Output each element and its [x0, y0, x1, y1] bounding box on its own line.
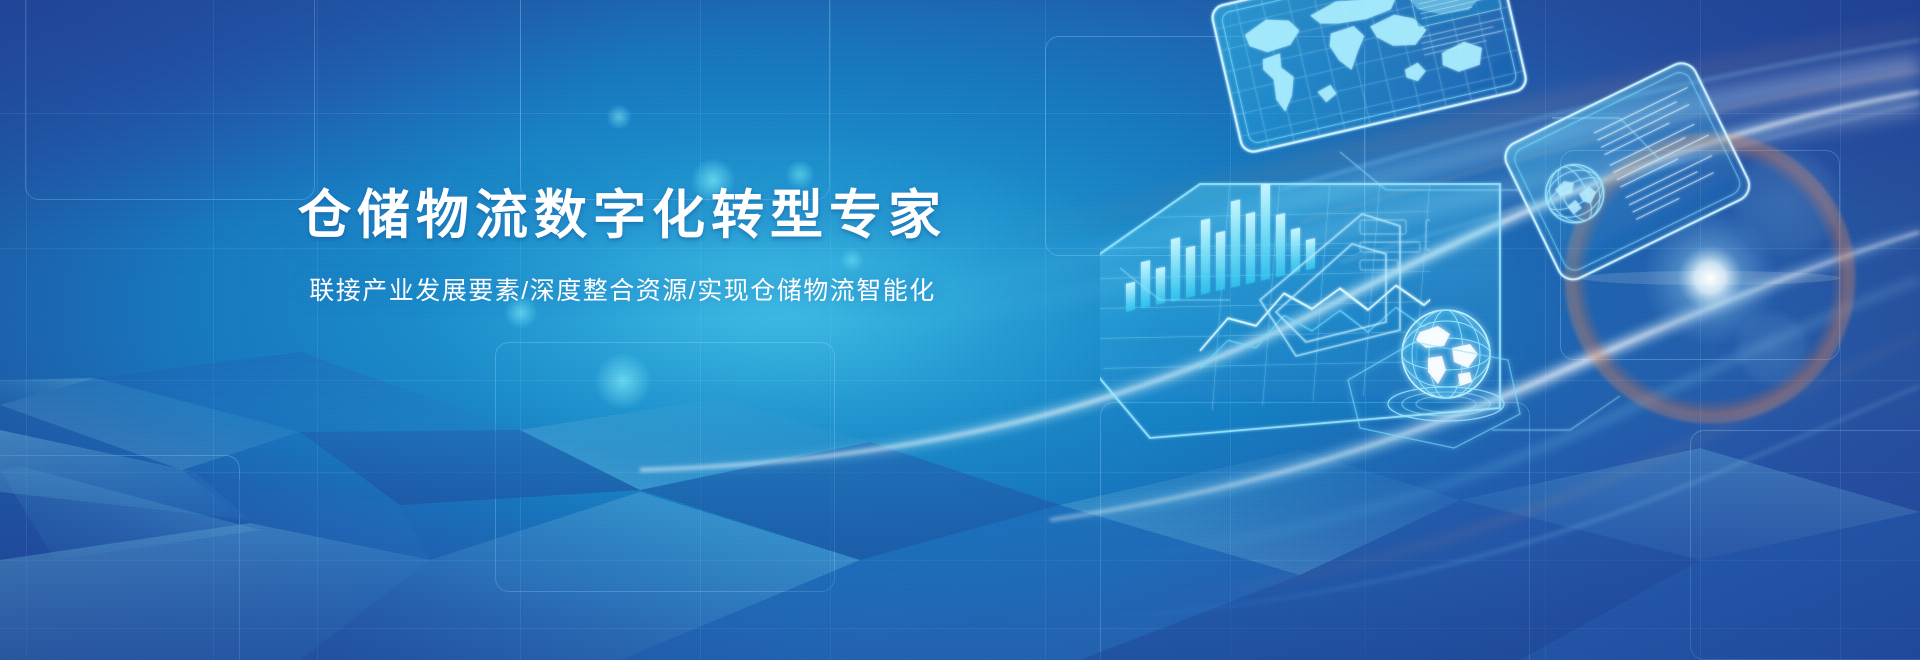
text-readout-panel — [1500, 58, 1755, 285]
page-title: 仓储物流数字化转型专家 — [0, 186, 1245, 245]
grid-line-vertical — [520, 0, 521, 660]
decorative-rounded-rect — [520, 0, 830, 200]
decorative-rounded-rect — [0, 455, 240, 660]
decorative-rounded-rect — [25, 0, 315, 200]
decorative-rounded-rect — [495, 342, 835, 592]
grid-line-horizontal — [0, 628, 1920, 629]
world-map-panel: ASIA WORLD MAP — [1210, 0, 1528, 154]
grid-line-vertical — [317, 0, 318, 660]
grid-line-vertical — [26, 0, 27, 660]
grid-line-horizontal — [0, 560, 1920, 561]
grid-line-vertical — [213, 0, 214, 660]
hero-banner: ASIA WORLD MAP — [0, 0, 1920, 660]
glow-orb — [594, 352, 652, 410]
glow-orb — [606, 104, 632, 130]
grid-line-vertical — [830, 0, 831, 660]
page-subtitle: 联接产业发展要素/深度整合资源/实现仓储物流智能化 — [0, 275, 1245, 308]
hero-text-block: 仓储物流数字化转型专家 联接产业发展要素/深度整合资源/实现仓储物流智能化 — [0, 186, 1245, 308]
grid-line-vertical — [1045, 0, 1046, 660]
grid-line-vertical — [700, 0, 701, 660]
